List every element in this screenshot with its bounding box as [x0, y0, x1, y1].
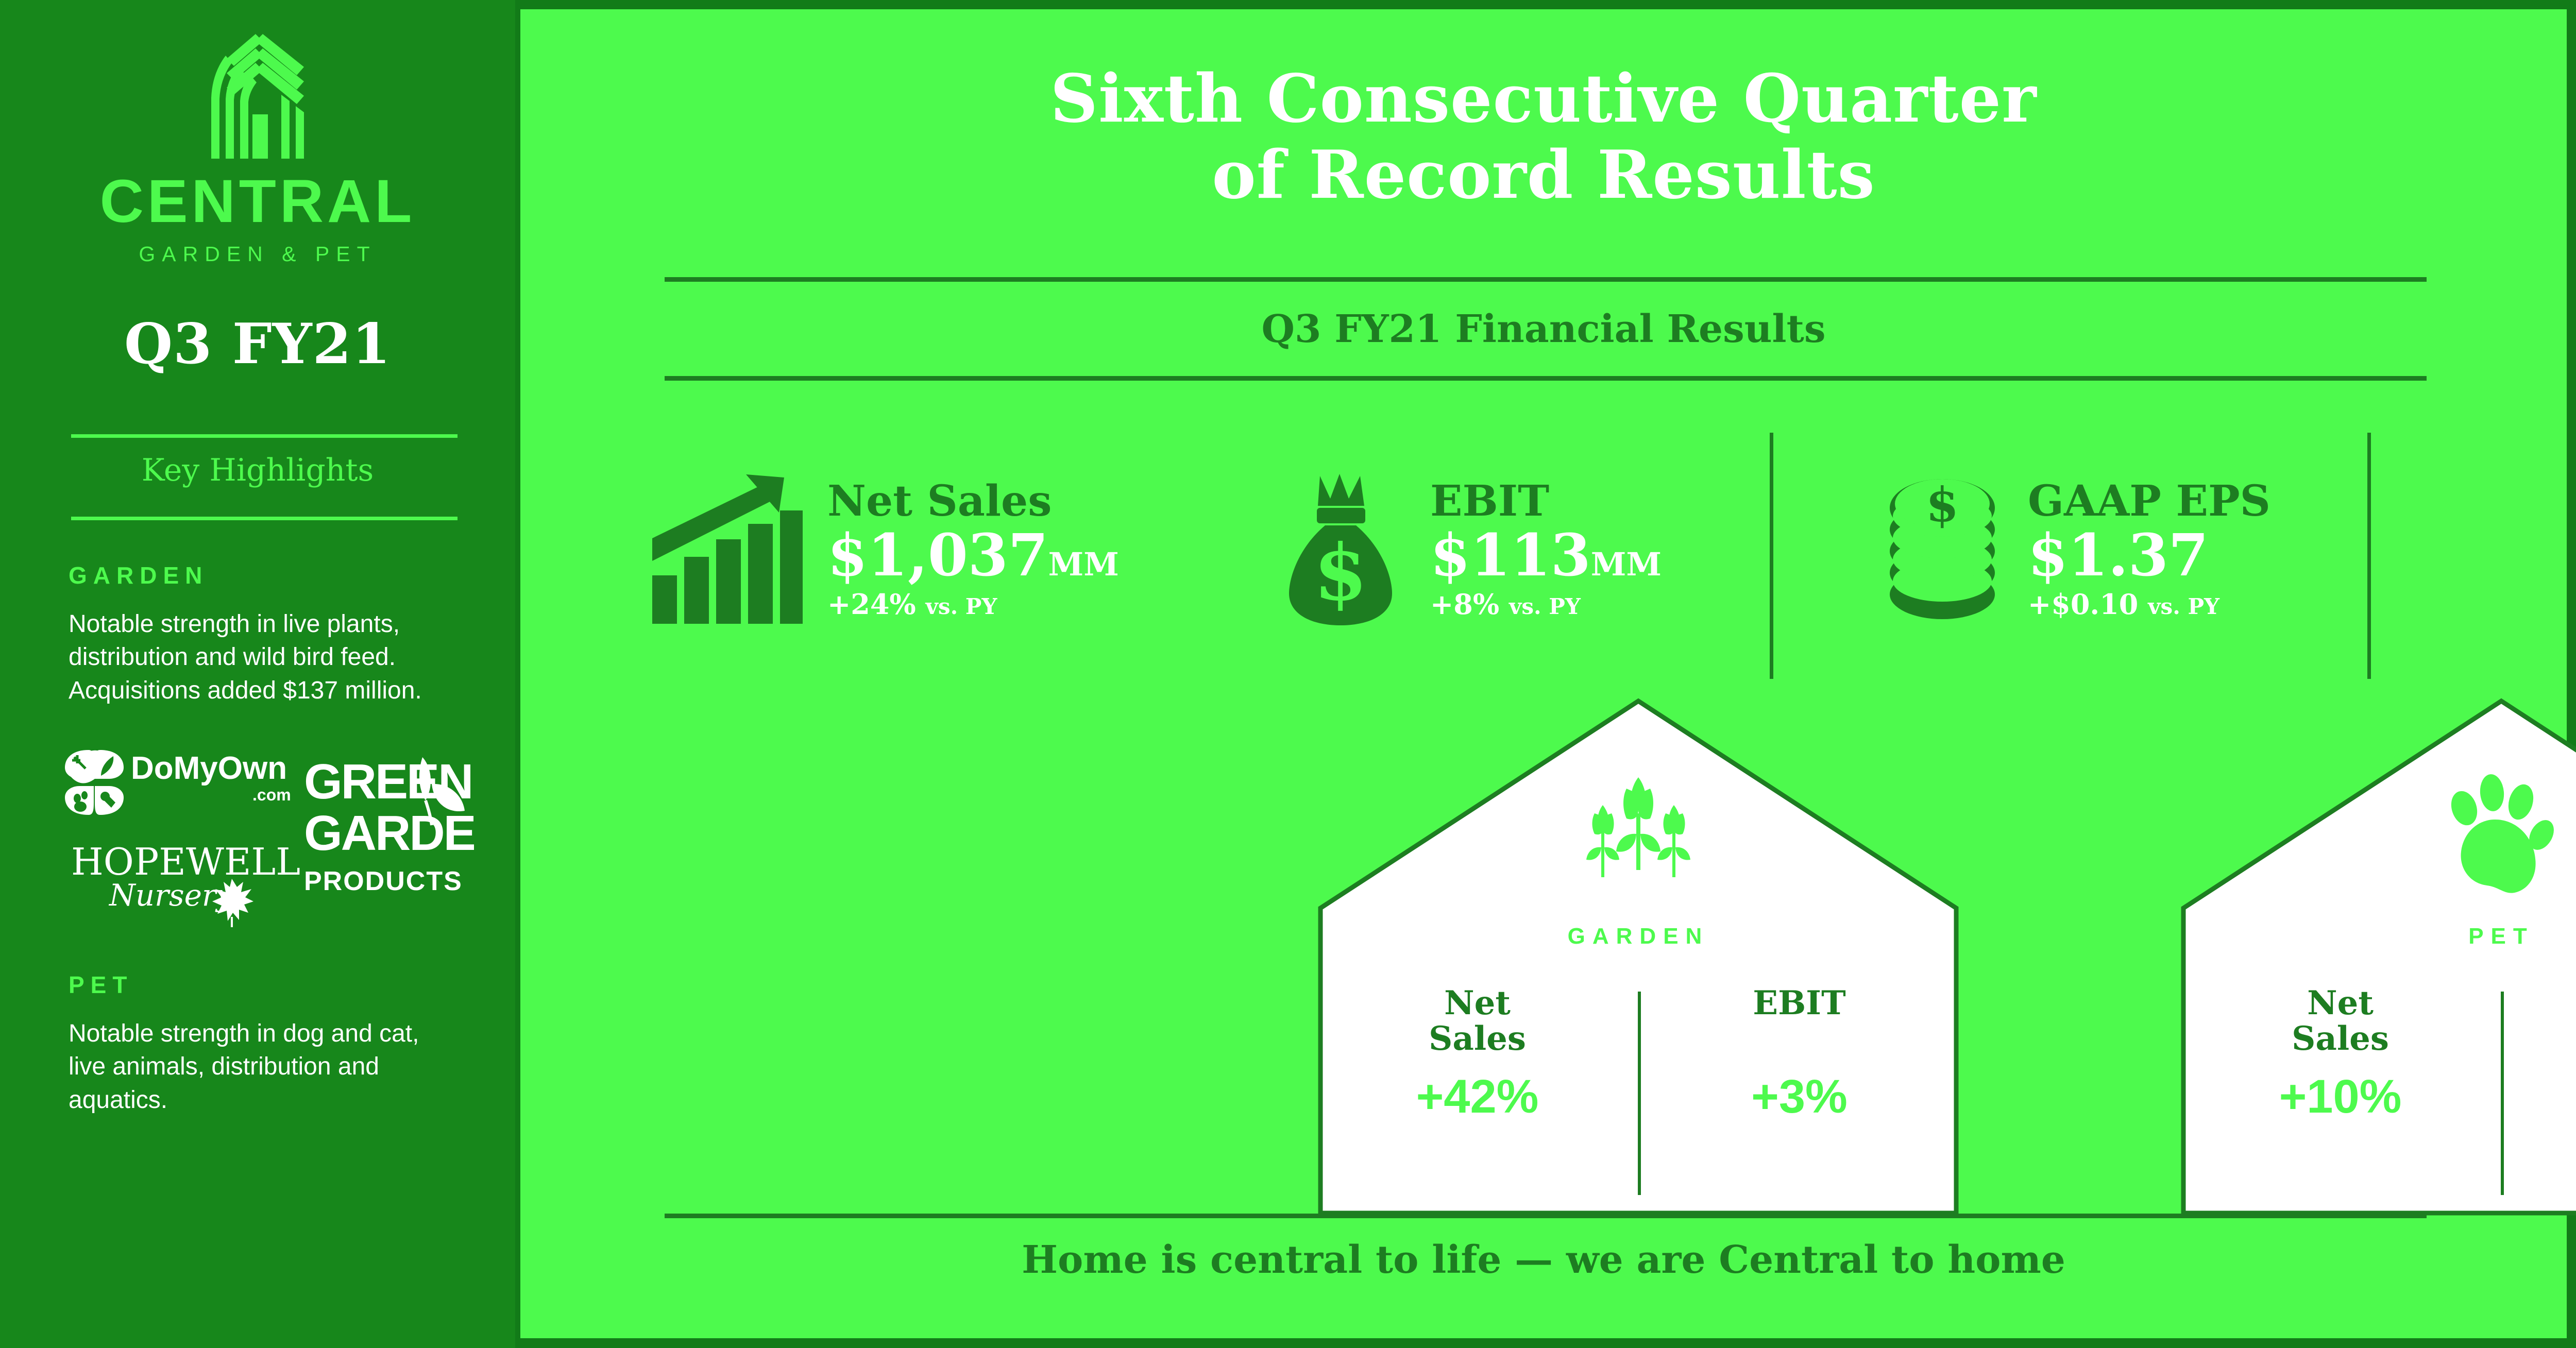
kpi-delta-suffix-net-sales: vs. PY: [926, 594, 997, 619]
brand-label-garden: GARDEN: [304, 806, 474, 861]
key-highlights-label: Key Highlights: [0, 452, 515, 488]
header-rule-top: [665, 277, 2427, 282]
house-lines-icon: [180, 31, 335, 160]
headline-line-2: of Record Results: [520, 137, 2567, 213]
quarter-title: Q3 FY21: [0, 312, 515, 377]
kpi-value-net-sales: $1,037MM: [827, 523, 1257, 588]
kpi-divider-2: [2367, 433, 2371, 679]
kpi-net-sales: Net Sales $1,037MM +24% vs. PY: [649, 421, 1257, 679]
segment-metric-pet-net-sales: Net Sales +10%: [2179, 985, 2501, 1191]
tulips-icon: [1316, 773, 1960, 899]
subheadline: Q3 FY21 Financial Results: [520, 307, 2567, 351]
kpi-delta-net-sales: +24% vs. PY: [827, 588, 1257, 621]
kpi-gaap-eps: $ GAAP EPS $1.37 +$0.10 vs. PY: [1880, 421, 2452, 679]
kpi-divider-1: [1770, 433, 1773, 679]
svg-text:$: $: [1926, 477, 1959, 533]
footer-rule: [665, 1214, 2427, 1218]
sidebar-rule-bottom: [71, 517, 457, 520]
kpi-amount-net-sales: $1,037: [827, 522, 1048, 589]
kpi-delta-suffix-gaap-eps: vs. PY: [2148, 594, 2219, 619]
kpi-delta-value-gaap-eps: +$0.10: [2028, 588, 2138, 621]
money-bag-icon: $: [1288, 472, 1406, 629]
svg-text:$: $: [1314, 527, 1367, 618]
kpi-value-ebit: $113MM: [1430, 523, 1855, 588]
segment-card-pet-content: PET Net Sales +10% EBIT +12%: [2179, 697, 2576, 1217]
segment-metric-divider-garden: [1638, 992, 1641, 1195]
metric-value-pet-ebit: +12%: [2501, 1070, 2576, 1124]
kpi-net-sales-text: Net Sales $1,037MM +24% vs. PY: [827, 479, 1257, 621]
segment-metric-divider-pet: [2501, 992, 2504, 1195]
kpi-delta-value-net-sales: +24%: [827, 588, 916, 621]
kpi-delta-gaap-eps: +$0.10 vs. PY: [2028, 588, 2452, 621]
metric-label-line1-garden-ebit: EBIT: [1638, 985, 1960, 1021]
metric-label-line2-garden-net-sales: Sales: [1316, 1021, 1638, 1056]
kpi-row: Net Sales $1,037MM +24% vs. PY: [649, 421, 2452, 679]
headline-line-1: Sixth Consecutive Quarter: [520, 61, 2567, 137]
metric-label-line1-pet-net-sales: Net: [2179, 985, 2501, 1021]
segment-metric-garden-ebit: EBIT +3%: [1638, 985, 1960, 1191]
segment-metrics-pet: Net Sales +10% EBIT +12%: [2179, 985, 2576, 1191]
paw-print-icon: [2179, 773, 2576, 899]
company-logo: CENTRAL GARDEN & PET: [0, 31, 515, 266]
segment-card-pet: PET Net Sales +10% EBIT +12%: [2179, 697, 2576, 1217]
kpi-label-net-sales: Net Sales: [827, 479, 1257, 523]
segment-heading-garden: GARDEN: [69, 561, 208, 589]
sidebar-rule-top: [71, 434, 457, 438]
metric-value-garden-ebit: +3%: [1638, 1070, 1960, 1124]
kpi-unit-net-sales: MM: [1048, 545, 1119, 583]
brand-label-products: PRODUCTS: [304, 866, 463, 896]
page-headline: Sixth Consecutive Quarter of Record Resu…: [520, 61, 2567, 214]
metric-label-line2-garden-ebit: [1638, 1021, 1960, 1056]
segment-label-garden: GARDEN: [1316, 924, 1960, 949]
brand-label-hopewell-script: Nursery: [108, 878, 234, 913]
segment-metric-garden-net-sales: Net Sales +42%: [1316, 985, 1638, 1191]
footer-tagline: Home is central to life — we are Central…: [520, 1238, 2567, 1282]
metric-label-line1-garden-net-sales: Net: [1316, 985, 1638, 1021]
kpi-delta-ebit: +8% vs. PY: [1430, 588, 1855, 621]
kpi-amount-ebit: $113: [1430, 522, 1591, 589]
logo-tagline: GARDEN & PET: [0, 242, 515, 266]
metric-label-line2-pet-ebit: [2501, 1021, 2576, 1056]
segment-card-garden-content: GARDEN Net Sales +42% EBIT +3%: [1316, 697, 1960, 1217]
segment-heading-pet: PET: [69, 971, 133, 999]
kpi-delta-value-ebit: +8%: [1430, 588, 1499, 621]
kpi-amount-gaap-eps: $1.37: [2028, 522, 2209, 589]
clover-four-petal-icon: [65, 747, 124, 815]
kpi-gaap-eps-text: GAAP EPS $1.37 +$0.10 vs. PY: [2028, 479, 2452, 621]
segment-card-garden: GARDEN Net Sales +42% EBIT +3%: [1316, 697, 1960, 1217]
kpi-value-gaap-eps: $1.37: [2028, 523, 2452, 588]
metric-value-pet-net-sales: +10%: [2179, 1070, 2501, 1124]
metric-label-line2-pet-net-sales: Sales: [2179, 1021, 2501, 1056]
kpi-label-ebit: EBIT: [1430, 479, 1855, 523]
main-panel: Sixth Consecutive Quarter of Record Resu…: [520, 9, 2567, 1338]
kpi-label-gaap-eps: GAAP EPS: [2028, 479, 2452, 523]
brand-label-hopewell: HOPEWELL: [71, 840, 300, 883]
metric-value-garden-net-sales: +42%: [1316, 1070, 1638, 1124]
brand-label-domyown-suffix: .com: [252, 786, 291, 804]
segment-metric-pet-ebit: EBIT +12%: [2501, 985, 2576, 1191]
header-rule-bottom: [665, 376, 2427, 381]
brand-logo-group: DoMyOwn DoMyOwn .com HOPEWELL Nursery GR…: [62, 747, 474, 927]
segment-body-pet: Notable strength in dog and cat, live an…: [69, 1017, 447, 1117]
sidebar: CENTRAL GARDEN & PET Q3 FY21 Key Highlig…: [0, 0, 515, 1348]
kpi-ebit-text: EBIT $113MM +8% vs. PY: [1430, 479, 1855, 621]
segment-label-pet: PET: [2179, 924, 2576, 949]
coin-stack-icon: $: [1880, 472, 2004, 629]
kpi-delta-suffix-ebit: vs. PY: [1509, 594, 1581, 619]
logo-wordmark: CENTRAL: [0, 171, 515, 232]
bar-chart-arrow-up-icon: [649, 474, 804, 626]
kpi-unit-ebit: MM: [1591, 545, 1662, 583]
segment-body-garden: Notable strength in live plants, distrib…: [69, 608, 447, 707]
metric-label-line1-pet-ebit: EBIT: [2501, 985, 2576, 1021]
